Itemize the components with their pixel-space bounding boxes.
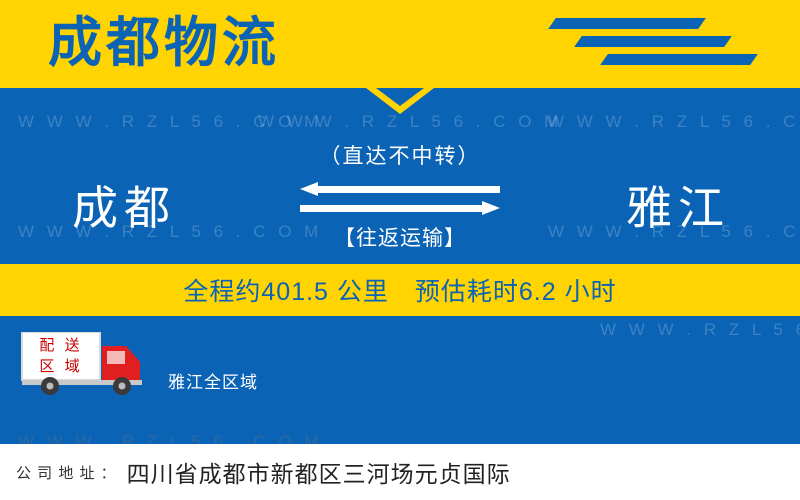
- logistics-banner: 成都物流 W W W . R Z L 5 6 . C O M W W W . R…: [0, 0, 800, 500]
- watermark: W W W . R Z L 5 6 . C O M: [258, 112, 562, 132]
- roundtrip-note: 【往返运输】: [0, 222, 800, 252]
- footer-address: 四川省成都市新都区三河场元贞国际: [127, 455, 511, 489]
- delivery-badge-line2: 区 域: [26, 356, 96, 377]
- double-arrow-icon: [300, 182, 500, 216]
- watermark: W W W . R Z L 5 6 . C O M: [600, 320, 800, 340]
- stats-band: 全程约401.5 公里 预估耗时6.2 小时: [0, 264, 800, 316]
- footer-bar: 公 司 地 址 ： 四川省成都市新都区三河场元贞国际: [0, 444, 800, 500]
- delivery-truck-icon: 配 送 区 域: [14, 332, 154, 396]
- coverage-area: 雅江全区域: [168, 368, 258, 393]
- header-notch-inner: [376, 88, 424, 106]
- banner-header: 成都物流: [0, 0, 800, 88]
- direct-note: （直达不中转）: [0, 140, 800, 170]
- delivery-badge-line1: 配 送: [26, 335, 96, 356]
- delivery-badge: 配 送 区 域: [26, 334, 96, 378]
- chevron-right-icon: [552, 12, 782, 76]
- footer-label: 公 司 地 址 ：: [16, 462, 117, 483]
- page-title: 成都物流: [48, 8, 280, 78]
- watermark: W W W . R Z L 5 6 . C O M: [548, 112, 800, 132]
- distance-text: 全程约401.5 公里: [183, 272, 389, 308]
- duration-text: 预估耗时6.2 小时: [415, 272, 617, 308]
